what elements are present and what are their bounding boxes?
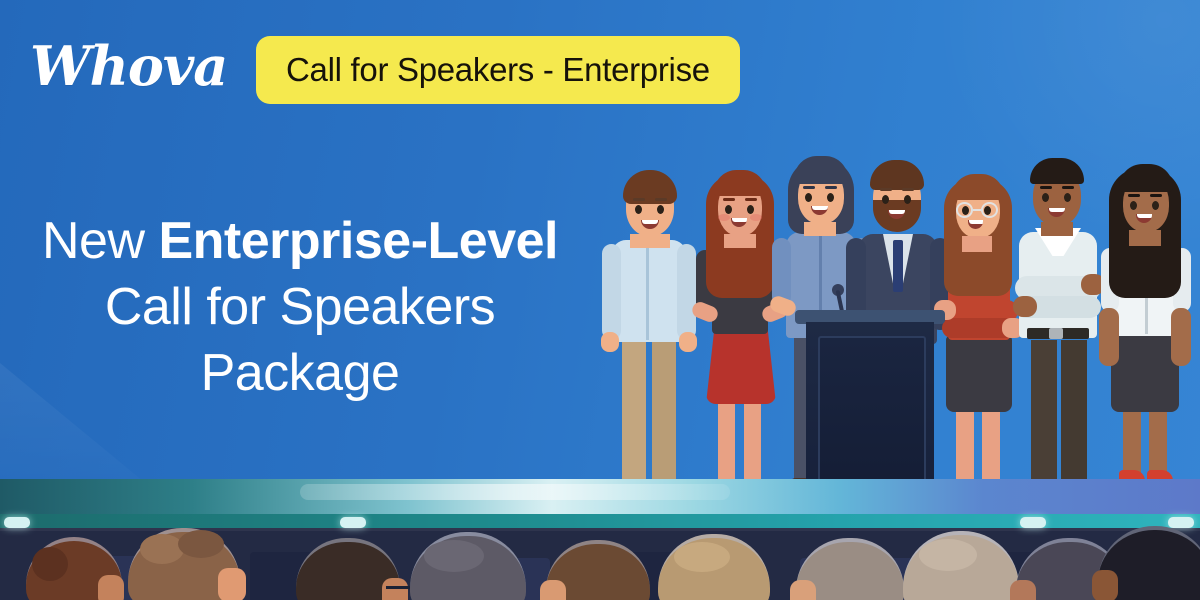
lectern-front-panel: [818, 336, 926, 498]
speaker-man-light-blue-shirt: [600, 160, 700, 505]
audience-head-gray-bob: [400, 528, 535, 600]
audience-head-silver: [893, 527, 1028, 600]
headline-part1: New: [42, 212, 158, 270]
aisle-light: [340, 517, 366, 528]
marketing-banner: Whova Call for Speakers - Enterprise New…: [0, 0, 1200, 600]
audience-head-brown-bun: [20, 533, 130, 600]
audience-head-brown-short: [540, 536, 660, 600]
call-for-speakers-badge: Call for Speakers - Enterprise: [256, 36, 740, 104]
whova-logo: Whova: [30, 34, 230, 98]
badge-label: Call for Speakers - Enterprise: [286, 51, 710, 89]
speaker-woman-white-blouse-dark-skirt: [1095, 152, 1195, 504]
audience-head-curly-brown: [120, 524, 250, 600]
audience-head-blonde: [650, 530, 780, 600]
audience-head-black-afro: [1090, 522, 1200, 600]
aisle-light: [4, 517, 30, 528]
page-title: New Enterprise-Level Call for Speakers P…: [0, 208, 600, 406]
headline-part2: Call for Speakers Package: [105, 278, 495, 402]
stage-floor-highlight: [300, 484, 730, 500]
audience-head-dark-glasses: [290, 534, 410, 600]
headline-emphasis: Enterprise-Level: [158, 212, 558, 270]
